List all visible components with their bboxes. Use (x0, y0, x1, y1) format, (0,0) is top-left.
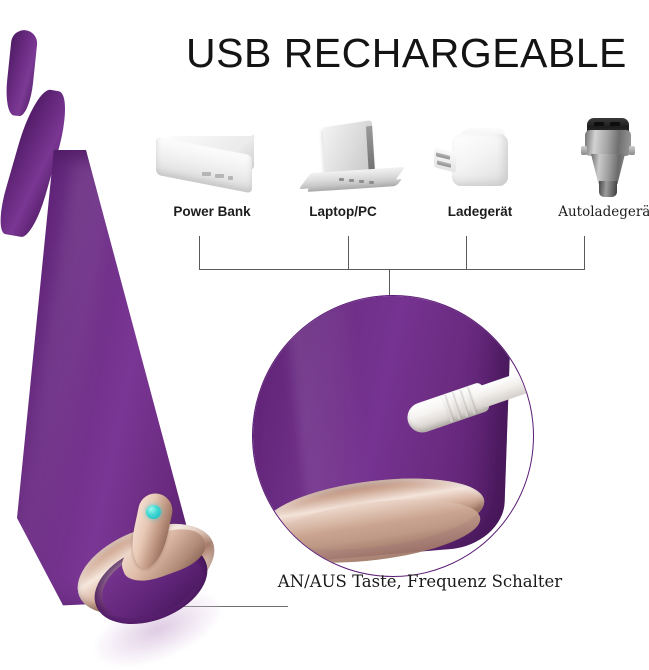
wall-charger-icon (418, 112, 542, 204)
bracket-drop-4 (584, 236, 585, 270)
product-infographic: USB RECHARGEABLE Power Bank (0, 0, 649, 670)
device-label: Ladegerät (418, 204, 542, 219)
bracket-crossbar (199, 269, 585, 270)
charging-port-closeup: ☽ ✕ (252, 295, 534, 577)
car-charger-icon (545, 112, 649, 204)
power-indicator-led[interactable] (146, 505, 161, 519)
device-laptop: Laptop/PC (281, 112, 405, 234)
device-label: Laptop/PC (281, 204, 405, 219)
bracket-stem (389, 269, 390, 297)
bracket-drop-3 (466, 236, 467, 270)
detail-caption: AN/AUS Taste, Frequenz Schalter (255, 572, 585, 591)
device-car-charger: Autoladegerät (545, 112, 649, 234)
product-tip (4, 29, 39, 117)
device-label: Autoladegerät (545, 204, 649, 220)
laptop-icon (281, 112, 405, 204)
device-wall-charger: Ladegerät (418, 112, 542, 234)
page-title: USB RECHARGEABLE (186, 30, 626, 77)
bracket-drop-2 (348, 236, 349, 270)
product-image (0, 0, 250, 670)
